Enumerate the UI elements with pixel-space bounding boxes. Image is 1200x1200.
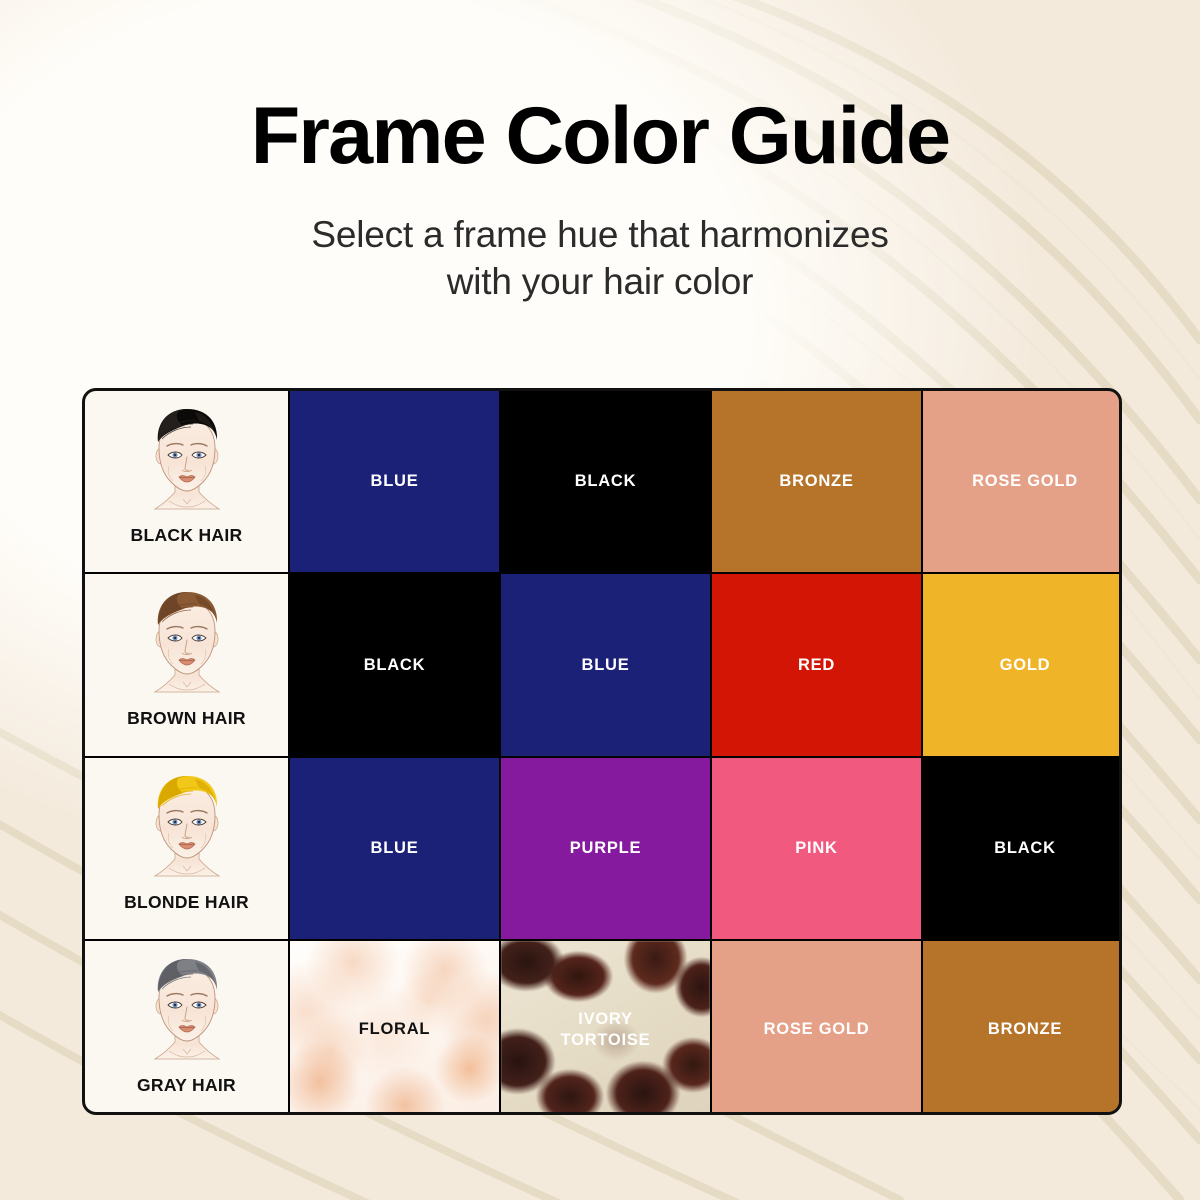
color-swatch-label: GOLD (1000, 655, 1051, 675)
female-face-icon (125, 583, 249, 706)
color-swatch-cell[interactable]: FLORAL (290, 941, 499, 1115)
color-swatch-cell[interactable]: BLACK (501, 391, 710, 572)
color-swatch-label: PINK (795, 838, 837, 858)
hair-type-cell[interactable]: BROWN HAIR (85, 574, 288, 756)
color-swatch-label: BLUE (371, 471, 419, 491)
color-swatch-label: BLACK (994, 838, 1056, 858)
color-swatch-label: BLUE (371, 838, 419, 858)
color-swatch-label: FLORAL (359, 1019, 430, 1039)
color-swatch-cell[interactable]: PURPLE (501, 758, 710, 939)
color-swatch-cell[interactable]: PINK (712, 758, 921, 939)
hair-type-label: BROWN HAIR (127, 708, 246, 729)
hair-type-label: BLONDE HAIR (124, 892, 249, 913)
frame-color-grid-container: BLACK HAIRBLUEBLACKBRONZEROSE GOLD BROW (82, 388, 1122, 1115)
color-swatch-cell[interactable]: BLUE (501, 574, 710, 756)
color-swatch-cell[interactable]: BLACK (290, 574, 499, 756)
color-swatch-label: PURPLE (570, 838, 641, 858)
infographic-root: Frame Color Guide Select a frame hue tha… (0, 0, 1200, 1200)
color-swatch-label: BLACK (364, 655, 426, 675)
female-face-icon (125, 400, 249, 523)
female-face-icon (125, 950, 249, 1073)
color-swatch-cell[interactable]: BRONZE (923, 941, 1122, 1115)
color-swatch-cell[interactable]: BRONZE (712, 391, 921, 572)
hair-type-label: GRAY HAIR (137, 1075, 236, 1096)
color-swatch-cell[interactable]: BLUE (290, 391, 499, 572)
color-swatch-label: BRONZE (988, 1019, 1062, 1039)
color-swatch-label: ROSE GOLD (972, 471, 1078, 491)
hair-type-cell[interactable]: BLACK HAIR (85, 391, 288, 572)
color-swatch-cell[interactable]: RED (712, 574, 921, 756)
page-title: Frame Color Guide (0, 96, 1200, 177)
hair-type-label: BLACK HAIR (131, 525, 243, 546)
color-swatch-cell[interactable]: ROSE GOLD (923, 391, 1122, 572)
color-swatch-label: BLUE (582, 655, 630, 675)
female-face-icon (125, 767, 249, 890)
hair-type-cell[interactable]: BLONDE HAIR (85, 758, 288, 939)
color-swatch-label: BLACK (575, 471, 637, 491)
color-swatch-cell[interactable]: ROSE GOLD (712, 941, 921, 1115)
color-swatch-label: BRONZE (779, 471, 853, 491)
color-swatch-cell[interactable]: GOLD (923, 574, 1122, 756)
color-swatch-cell[interactable]: BLACK (923, 758, 1122, 939)
page-subtitle: Select a frame hue that harmonizes with … (0, 211, 1200, 306)
color-swatch-label: RED (798, 655, 835, 675)
hair-type-cell[interactable]: GRAY HAIR (85, 941, 288, 1115)
header: Frame Color Guide Select a frame hue tha… (0, 96, 1200, 306)
color-swatch-label: IVORY TORTOISE (561, 1009, 651, 1049)
color-swatch-label: ROSE GOLD (764, 1019, 870, 1039)
color-swatch-cell[interactable]: IVORY TORTOISE (501, 941, 710, 1115)
color-swatch-cell[interactable]: BLUE (290, 758, 499, 939)
frame-color-grid: BLACK HAIRBLUEBLACKBRONZEROSE GOLD BROW (85, 391, 1119, 1112)
